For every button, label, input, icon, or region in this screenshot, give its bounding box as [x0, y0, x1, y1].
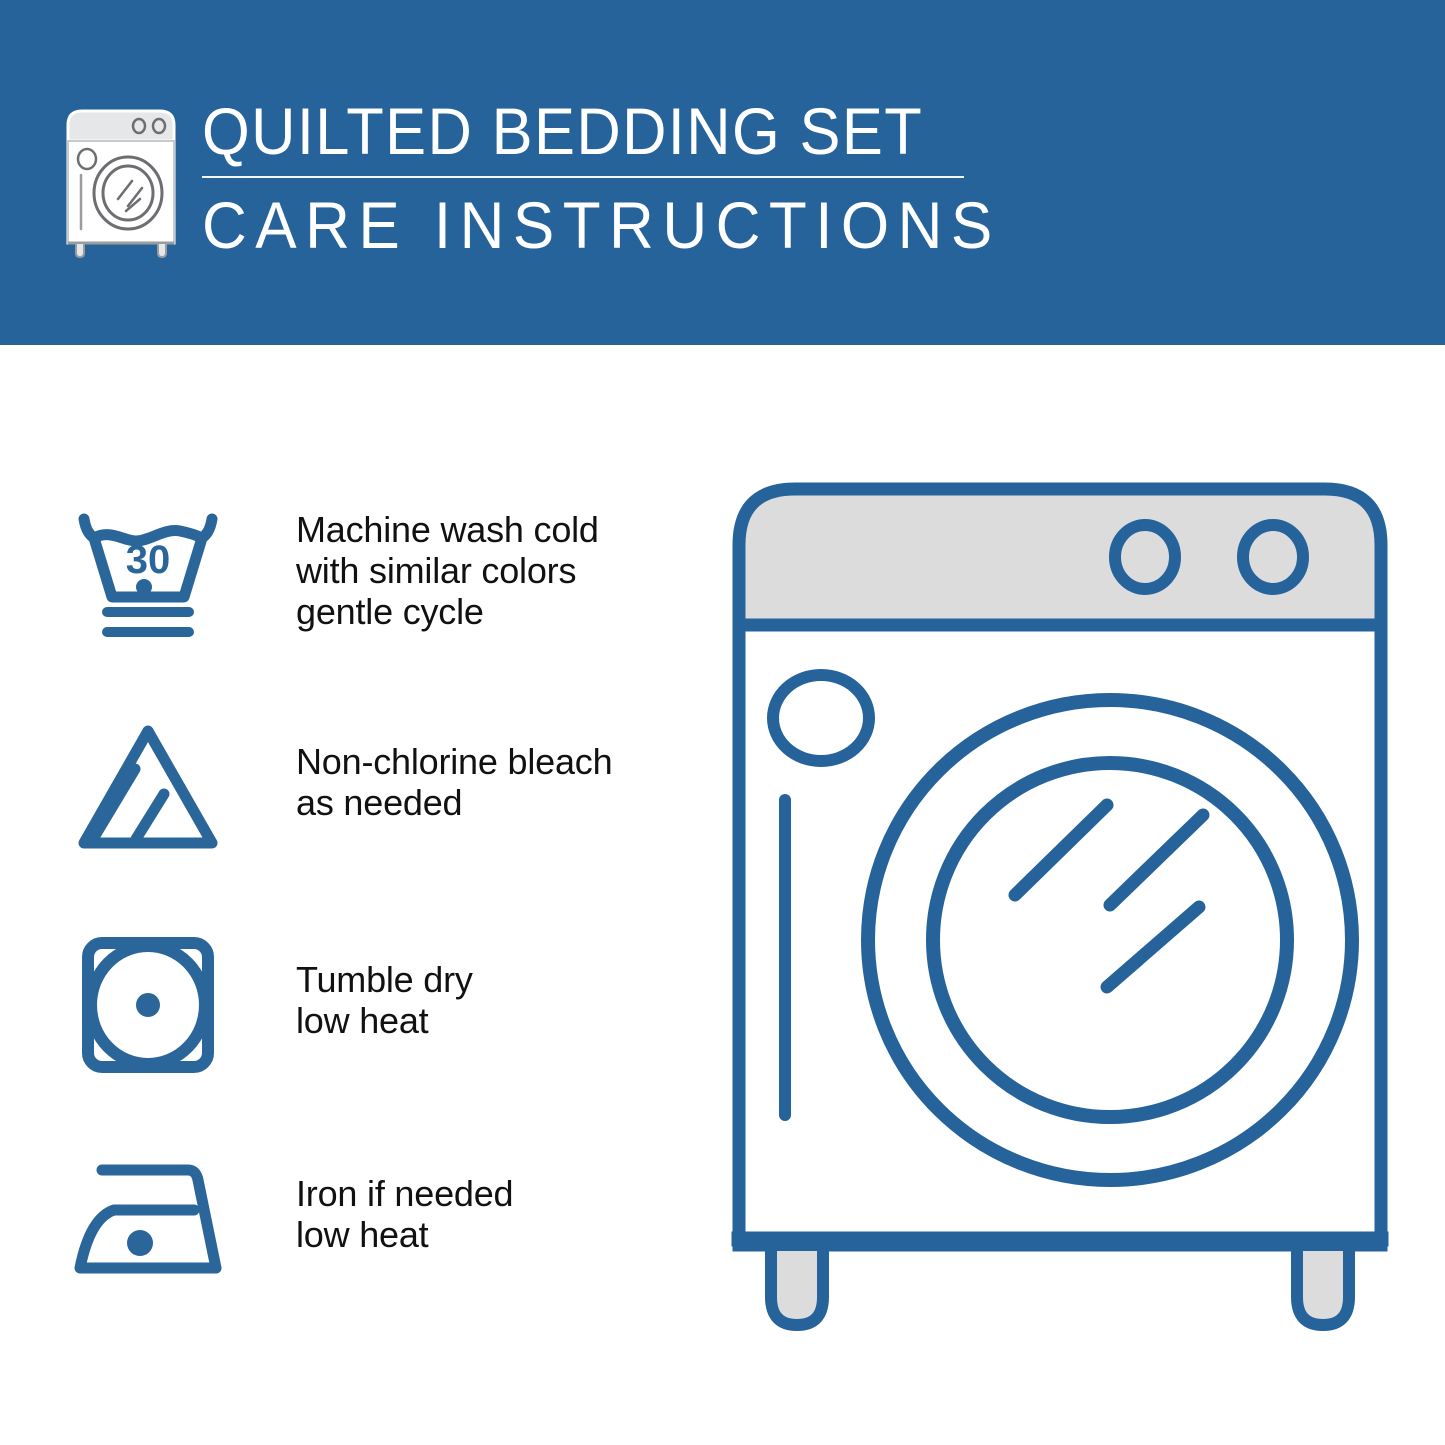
care-instruction-row-wash: 30 Machine wash cold with similar colors… [68, 495, 688, 655]
care-text-line: gentle cycle [296, 591, 599, 632]
care-instruction-row-dry: Tumble dry low heat [68, 925, 688, 1085]
triangle-stripes-icon [68, 709, 228, 869]
page-subtitle: CARE INSTRUCTIONS [202, 188, 1001, 262]
washing-machine-icon [62, 103, 180, 258]
care-text-line: Machine wash cold [296, 509, 599, 550]
header-divider [202, 176, 964, 178]
care-instruction-list: 30 Machine wash cold with similar colors… [68, 495, 688, 1299]
svg-text:30: 30 [126, 538, 171, 582]
care-text-line: as needed [296, 782, 612, 823]
care-instruction-row-iron: Iron if needed low heat [68, 1139, 688, 1299]
header-banner: QUILTED BEDDING SET CARE INSTRUCTIONS [0, 0, 1445, 345]
iron-one-dot-icon [68, 1139, 228, 1299]
washing-machine-illustration [725, 475, 1395, 1365]
page-title: QUILTED BEDDING SET [202, 95, 992, 167]
care-text-line: Iron if needed [296, 1173, 513, 1214]
care-instruction-text-bleach: Non-chlorine bleach as needed [296, 709, 612, 823]
header-content: QUILTED BEDDING SET CARE INSTRUCTIONS [62, 95, 1052, 262]
header-text-block: QUILTED BEDDING SET CARE INSTRUCTIONS [202, 95, 1052, 262]
care-text-line: Non-chlorine bleach [296, 741, 612, 782]
content-area: 30 Machine wash cold with similar colors… [0, 345, 1445, 1445]
care-instruction-text-dry: Tumble dry low heat [296, 925, 473, 1041]
care-instruction-row-bleach: Non-chlorine bleach as needed [68, 709, 688, 869]
care-text-line: with similar colors [296, 550, 599, 591]
care-text-line: low heat [296, 1214, 513, 1255]
care-instruction-text-iron: Iron if needed low heat [296, 1139, 513, 1255]
care-text-line: low heat [296, 1000, 473, 1041]
care-instruction-text-wash: Machine wash cold with similar colors ge… [296, 495, 599, 632]
care-text-line: Tumble dry [296, 959, 473, 1000]
wash-tub-30-gentle-icon: 30 [68, 495, 228, 655]
tumble-dry-low-icon [68, 925, 228, 1085]
